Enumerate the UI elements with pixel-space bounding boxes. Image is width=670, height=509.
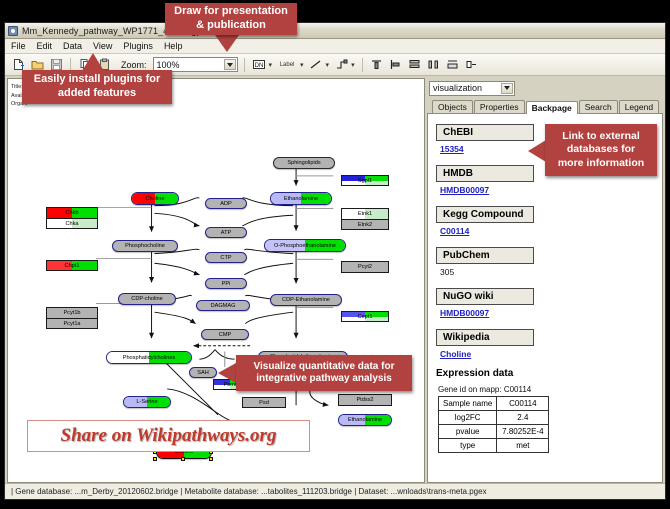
chevron-down-icon[interactable] (224, 59, 236, 70)
gene-label: Chka (65, 221, 78, 227)
gene-label: Psd (259, 400, 269, 406)
backpage-value-pubchem: 305 (440, 267, 662, 277)
backpage-header-kegg: Kegg Compound (436, 206, 534, 223)
stack-icon[interactable] (407, 57, 423, 73)
plugins-callout: Easily install plugins for added feature… (22, 70, 172, 104)
node-label: PPi (222, 281, 231, 287)
expr-key-type: type (439, 439, 497, 453)
selection-handle-se[interactable] (209, 457, 213, 461)
tab-search[interactable]: Search (579, 100, 618, 113)
gene-chka[interactable]: Chka (46, 218, 98, 229)
zoom-label: Zoom: (121, 60, 147, 70)
node-label: ATP (221, 230, 231, 236)
expr-val-type: met (497, 439, 549, 453)
toolbar-separator-3 (362, 58, 363, 72)
node-label: Sphingolipids (287, 160, 320, 166)
visualize-callout: Visualize quantitative data for integrat… (236, 355, 412, 391)
expr-key-sample-name: Sample name (439, 397, 497, 411)
expr-val-pvalue: 7.80252E-4 (497, 425, 549, 439)
node-label: Choline (146, 196, 165, 202)
backpage-link-wikipedia[interactable]: Choline (440, 349, 662, 359)
gene-sgpl1[interactable]: Sgpl1 (341, 175, 389, 186)
draw-callout-text: Draw for presentation & publication (174, 5, 288, 33)
gene-label: Chpt1 (65, 263, 80, 269)
node-phosphatidylcholines[interactable]: Phosphatidylcholines (106, 351, 192, 364)
node-label: ADP (220, 201, 232, 207)
gene-pcyt2[interactable]: Pcyt2 (341, 261, 389, 273)
title-bar: Mm_Kennedy_pathway_WP1771_45176.gpml (5, 23, 665, 39)
align-left-icon[interactable] (388, 57, 404, 73)
node-adp[interactable]: ADP (205, 198, 247, 209)
menu-item-plugins[interactable]: Plugins (122, 41, 154, 51)
node-label: Phosphatidylcholines (123, 355, 176, 361)
datanode-caret-icon[interactable]: ▾ (269, 61, 273, 69)
node-label: Ethanolamine (348, 417, 382, 423)
backpage-header-nugo: NuGO wiki (436, 288, 534, 305)
same-size-icon[interactable] (445, 57, 461, 73)
node-atp[interactable]: ATP (205, 227, 247, 238)
svg-text:DN: DN (254, 63, 263, 69)
highlight-icon[interactable] (464, 57, 480, 73)
backpage-link-kegg[interactable]: C00114 (440, 226, 662, 236)
gene-etnk2[interactable]: Etnk2 (341, 219, 389, 230)
table-row: type met (439, 439, 549, 453)
line-tool-icon[interactable] (308, 57, 324, 73)
connector-caret-icon[interactable]: ▾ (351, 61, 355, 69)
label-tool-text: Label (280, 62, 295, 68)
node-l-serine-left[interactable]: L-Serine (123, 396, 171, 408)
tab-backpage[interactable]: Backpage (526, 101, 578, 114)
share-callout-text: Share on Wikipathways.org (61, 425, 277, 447)
draw-callout: Draw for presentation & publication (165, 3, 297, 35)
gene-etnk1[interactable]: Etnk1 (341, 208, 389, 219)
pathvisio-icon (8, 26, 18, 36)
gene-cept1[interactable]: Cept1 (341, 311, 389, 322)
node-label: SAH (197, 370, 209, 376)
gene-label: Pcyt1b (63, 310, 80, 316)
expr-key-pvalue: pvalue (439, 425, 497, 439)
node-cdp-ethanolamine[interactable]: CDP-Ethanolamine (270, 294, 342, 306)
menu-bar: File Edit Data View Plugins Help (5, 39, 665, 54)
node-sah[interactable]: SAH (189, 367, 217, 378)
node-label: CDP-Ethanolamine (282, 297, 330, 303)
datanode-icon[interactable]: DN (251, 57, 267, 73)
gene-psd[interactable]: Psd (242, 397, 286, 408)
visualization-value: visualization (433, 83, 482, 93)
node-ppi[interactable]: PPi (205, 278, 247, 289)
node-label: CDP-choline (131, 296, 162, 302)
node-cmp[interactable]: CMP (201, 329, 249, 340)
node-label: DAGMAG (211, 303, 236, 309)
draw-callout-arrow-icon (215, 35, 239, 52)
node-label: O-Phosphoethanolamine (274, 243, 336, 249)
gene-label: Etnk1 (358, 211, 372, 217)
expr-val-sample-name: C00114 (497, 397, 549, 411)
gene-label: Chkb (65, 210, 78, 216)
node-phosphocholine[interactable]: Phosphocholine (112, 240, 178, 252)
gene-label: Cept1 (358, 314, 373, 320)
plugins-callout-text: Easily install plugins for added feature… (34, 73, 161, 101)
links-callout-text: Link to external databases for more info… (558, 130, 644, 169)
gene-label: Pcyt2 (358, 264, 372, 270)
distribute-icon[interactable] (426, 57, 442, 73)
node-label: L-Serine (136, 399, 157, 405)
table-row: Sample name C00114 (439, 397, 549, 411)
node-choline-top[interactable]: Choline (131, 192, 179, 205)
gene-label: Sgpl1 (358, 178, 372, 184)
table-row: pvalue 7.80252E-4 (439, 425, 549, 439)
line-caret-icon[interactable]: ▾ (326, 61, 330, 69)
visualization-row: visualization (427, 78, 663, 98)
gene-id-line: Gene id on mapp: C00114 (438, 385, 662, 394)
node-label: Ethanolamine (284, 196, 318, 202)
side-panel-tabs: Objects Properties Backpage Search Legen… (427, 98, 663, 114)
node-cdp-choline[interactable]: CDP-choline (118, 293, 176, 305)
gene-chkb[interactable]: Chkb (46, 207, 98, 218)
node-ethanolamine-bottom[interactable]: Ethanolamine (338, 414, 392, 426)
expression-data-table: Sample name C00114 log2FC 2.4 pvalue 7.8… (438, 396, 549, 453)
node-dagmag[interactable]: DAGMAG (196, 300, 250, 311)
links-callout: Link to external databases for more info… (545, 124, 657, 176)
backpage-header-chebi: ChEBI (436, 124, 534, 141)
chevron-down-icon[interactable] (501, 83, 513, 94)
table-row: log2FC 2.4 (439, 411, 549, 425)
align-top-icon[interactable] (369, 57, 385, 73)
label-caret-icon[interactable]: ▾ (300, 61, 304, 69)
gene-label: Ptdss2 (356, 397, 373, 403)
gene-chpt1[interactable]: Chpt1 (46, 260, 98, 271)
selection-handle-s[interactable] (181, 457, 185, 461)
gene-label: Etnk2 (358, 222, 372, 228)
connector-tool-icon[interactable] (333, 57, 349, 73)
node-label: Phosphocholine (125, 243, 165, 249)
visualize-callout-arrow-icon (218, 363, 236, 383)
gene-pcyt1b[interactable]: Pcyt1b (46, 307, 98, 318)
gene-pcyt1a[interactable]: Pcyt1a (46, 318, 98, 329)
menu-item-file[interactable]: File (10, 41, 27, 51)
tab-legend[interactable]: Legend (619, 100, 659, 113)
backpage-header-pubchem: PubChem (436, 247, 534, 264)
status-bar: | Gene database: ...m_Derby_20120602.bri… (5, 483, 665, 499)
node-o-phosphoethanolamine[interactable]: O-Phosphoethanolamine (264, 239, 346, 252)
plugins-callout-arrow-icon (82, 53, 104, 71)
status-bar-text: | Gene database: ...m_Derby_20120602.bri… (11, 487, 487, 496)
backpage-header-wikipedia: Wikipedia (436, 329, 534, 346)
menu-item-edit[interactable]: Edit (36, 41, 54, 51)
expr-val-log2fc: 2.4 (497, 411, 549, 425)
node-sphingolipids[interactable]: Sphingolipids (273, 157, 335, 169)
node-label: CTP (220, 255, 231, 261)
gene-ptdss2[interactable]: Ptdss2 (338, 394, 392, 406)
zoom-value: 100% (157, 60, 180, 70)
visualize-callout-text: Visualize quantitative data for integrat… (254, 361, 395, 386)
expr-key-log2fc: log2FC (439, 411, 497, 425)
links-callout-arrow-icon (528, 140, 546, 162)
expression-data-heading: Expression data (436, 368, 662, 379)
gene-label: Pcyt1a (63, 321, 80, 327)
node-label: CMP (219, 332, 231, 338)
share-callout: Share on Wikipathways.org (27, 420, 310, 452)
label-tool-icon[interactable]: Label (276, 57, 298, 73)
backpage-header-hmdb: HMDB (436, 165, 534, 182)
selection-handle-sw[interactable] (153, 457, 157, 461)
backpage-link-nugo[interactable]: HMDB00097 (440, 308, 662, 318)
menu-item-view[interactable]: View (92, 41, 113, 51)
menu-item-data[interactable]: Data (62, 41, 83, 51)
toolbar-separator-2 (244, 58, 245, 72)
menu-item-help[interactable]: Help (163, 41, 184, 51)
visualization-combobox[interactable]: visualization (429, 81, 515, 96)
backpage-link-hmdb[interactable]: HMDB00097 (440, 185, 662, 195)
tab-properties[interactable]: Properties (474, 100, 525, 113)
node-ethanolamine-top[interactable]: Ethanolamine (270, 192, 332, 205)
node-ctp[interactable]: CTP (205, 252, 247, 263)
tab-objects[interactable]: Objects (432, 100, 473, 113)
